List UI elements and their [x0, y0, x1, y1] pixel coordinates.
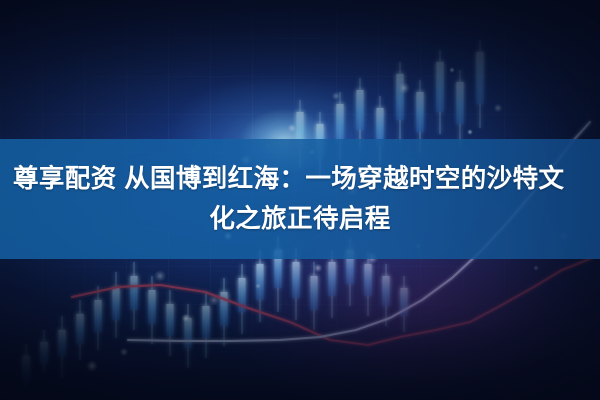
headline-band: 尊享配资 从国博到红海：一场穿越时空的沙特文 化之旅正待启程	[0, 139, 600, 259]
title-line-2: 化之旅正待启程	[8, 199, 592, 239]
promo-banner-image: 尊享配资 从国博到红海：一场穿越时空的沙特文 化之旅正待启程	[0, 0, 600, 400]
page-title: 尊享配资 从国博到红海：一场穿越时空的沙特文 化之旅正待启程	[8, 159, 592, 239]
title-line-1: 尊享配资 从国博到红海：一场穿越时空的沙特文	[8, 159, 592, 199]
